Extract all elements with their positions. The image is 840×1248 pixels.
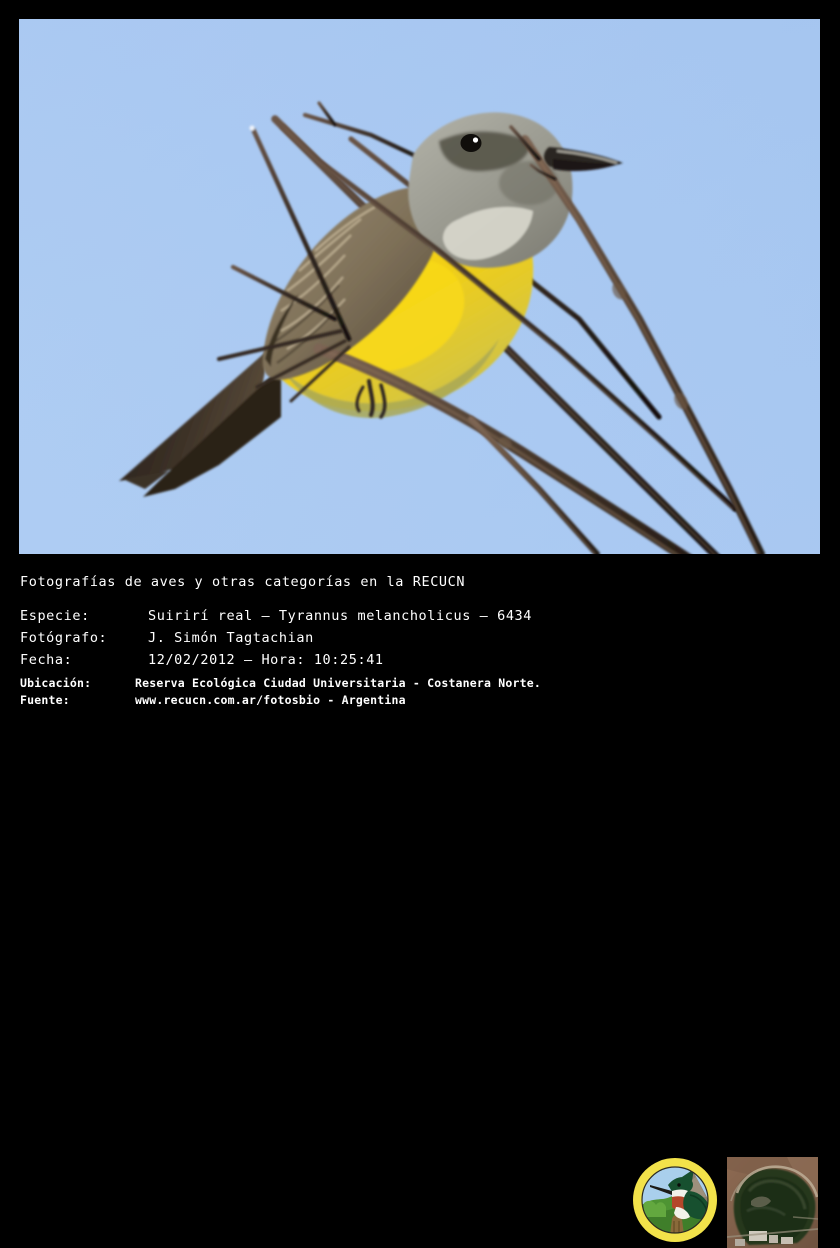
caption-key-fecha: Fecha: bbox=[20, 652, 148, 668]
caption-value-fuente: www.recucn.com.ar/fotosbio - Argentina bbox=[135, 693, 406, 707]
caption-row-especie: Especie:Suirirí real – Tyrannus melancho… bbox=[20, 608, 532, 624]
bird-photograph bbox=[19, 19, 820, 554]
recucn-emblem-logo bbox=[632, 1157, 718, 1243]
caption-row-fecha: Fecha:12/02/2012 – Hora: 10:25:41 bbox=[20, 652, 384, 668]
caption-row-fotografo: Fotógrafo:J. Simón Tagtachian bbox=[20, 630, 314, 646]
caption-panel: Fotografías de aves y otras categorías e… bbox=[0, 556, 840, 708]
reserve-aerial-thumbnail bbox=[727, 1157, 818, 1248]
bird-eye bbox=[461, 134, 482, 152]
caption-value-fecha: 12/02/2012 – Hora: 10:25:41 bbox=[148, 652, 384, 668]
caption-title: Fotografías de aves y otras categorías e… bbox=[20, 574, 465, 590]
bird-bill bbox=[544, 147, 623, 171]
caption-row-fuente: Fuente:www.recucn.com.ar/fotosbio - Arge… bbox=[20, 693, 406, 707]
caption-key-especie: Especie: bbox=[20, 608, 148, 624]
bird-tail bbox=[119, 349, 281, 497]
caption-row-ubicacion: Ubicación:Reserva Ecológica Ciudad Unive… bbox=[20, 676, 541, 690]
screenshot-root: Fotografías de aves y otras categorías e… bbox=[0, 0, 840, 708]
caption-key-fotografo: Fotógrafo: bbox=[20, 630, 148, 646]
caption-key-fuente: Fuente: bbox=[20, 693, 135, 707]
caption-key-ubicacion: Ubicación: bbox=[20, 676, 135, 690]
caption-value-especie: Suirirí real – Tyrannus melancholicus – … bbox=[148, 608, 532, 624]
caption-value-ubicacion: Reserva Ecológica Ciudad Universitaria -… bbox=[135, 676, 541, 690]
photo-subject-layer bbox=[19, 19, 820, 554]
caption-value-fotografo: J. Simón Tagtachian bbox=[148, 630, 314, 646]
